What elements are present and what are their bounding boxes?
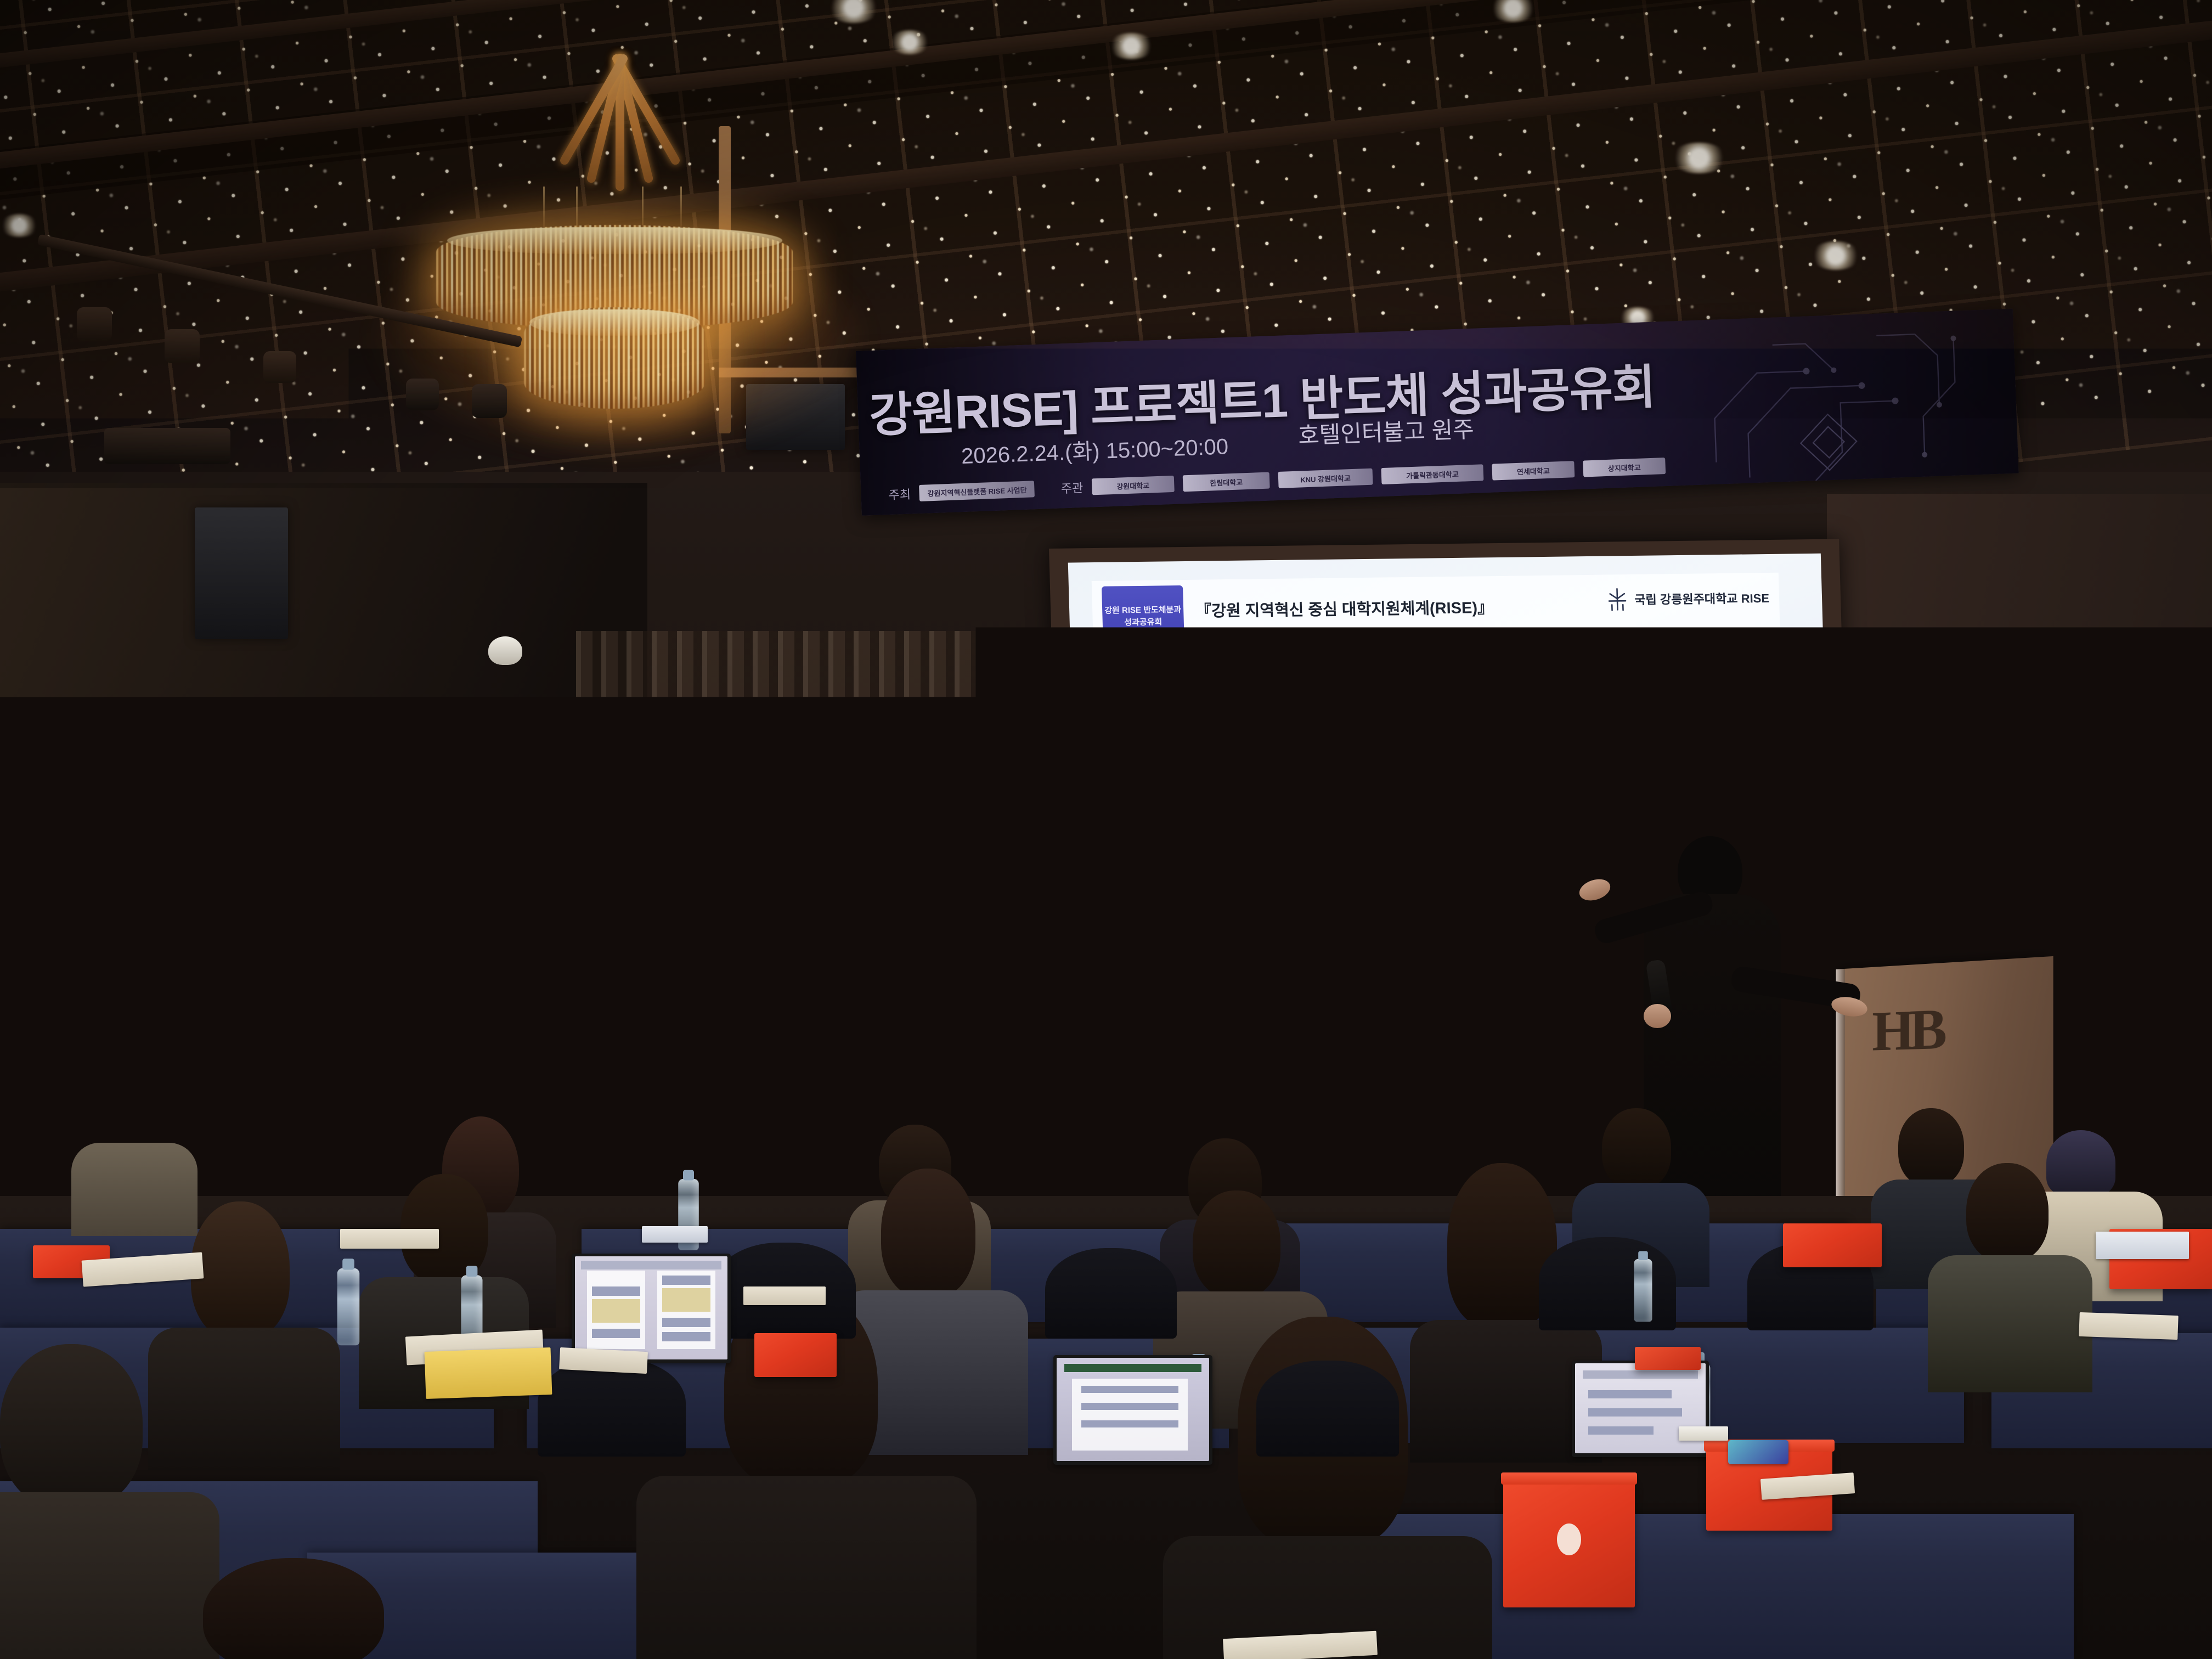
diagram-box-participating-companies: 도내 참여기업(14) 반도체소재/기구, 네온텍 등 반도체센서 학야테크, … (1180, 793, 1312, 866)
document-text-band (662, 1332, 711, 1341)
slide-bullet: ICC-Lab 융합형 첨단 반도체 기술혁신과 강원형 미래 반도체 산업 선… (1259, 670, 1753, 692)
wall-speaker (195, 507, 288, 639)
gift-box-label-seal (1557, 1523, 1581, 1555)
orbit-node (1542, 859, 1547, 863)
water-bottle (1634, 1259, 1652, 1322)
slide-logo-text: 국립 강릉원주대학교 RISE (1634, 589, 1770, 608)
conference-room-photo: 강원RISE] 프로젝트1 반도체 성과공유회 2026.2.24.(화) 15… (0, 0, 2212, 1659)
center-line-1: G-Tech 브릿지 (1406, 860, 1478, 873)
banner-title: 강원RISE] 프로젝트1 반도체 성과공유회 (868, 347, 1693, 445)
diagram-arrow-icon: ⟶ (1489, 988, 1531, 1026)
document-text-band (1081, 1386, 1178, 1393)
diagram-donut-ring: G-Tech 브릿지 연계형 강원형 첨단 반도체 센서 산업 육성 및 인력 … (1358, 794, 1527, 977)
shield-line-1: 강원 RISE 반도체분과 (1102, 604, 1184, 617)
center-line-2: 연계형 강원형 첨단 (1406, 872, 1478, 886)
laptop-screen (575, 1256, 727, 1359)
diagram-box-body: 강원특별자치도 강릉시 원주시 (1185, 949, 1315, 1000)
audience-head (1966, 1163, 2049, 1262)
connector-pill: MOU (1537, 789, 1562, 801)
audience-head (1898, 1108, 1964, 1186)
connector-pill: 재정지원 (1435, 999, 1468, 1012)
orbit-node (1437, 774, 1442, 778)
slide-event-shield-badge: 강원 RISE 반도체분과 성과공유회 (1102, 585, 1185, 663)
connector-pill: MOU (1327, 793, 1353, 804)
laptop[interactable] (1572, 1361, 1709, 1457)
chandelier-tier-lower (524, 307, 705, 409)
document-highlight-block (592, 1299, 641, 1323)
audience-head (1193, 1190, 1280, 1298)
connector-pill: 행정지원 (1314, 944, 1348, 957)
audience-head-ponytail (881, 1169, 975, 1298)
yellow-folder (425, 1347, 552, 1399)
laptop[interactable] (572, 1254, 731, 1363)
red-gift-box (1783, 1223, 1882, 1267)
presenter-right-hand-pointing (1830, 995, 1869, 1019)
orbit-node (1535, 964, 1539, 969)
laptop-screen (1057, 1358, 1209, 1461)
sponsor-logo: KNU 강원대학교 (1278, 469, 1373, 488)
track-spotlight-fixture (165, 329, 200, 363)
recessed-ceiling-light (1671, 143, 1728, 173)
document-toolbar (581, 1261, 721, 1270)
red-gift-box (754, 1333, 837, 1377)
center-line-4: 육성 및 인력 양성 (1407, 898, 1479, 912)
chair (1256, 1361, 1399, 1457)
audience-shoulders-jacket (0, 1492, 219, 1659)
document-body (1072, 1379, 1188, 1451)
diagram-box-title: 지자체 (시/군) (1184, 930, 1313, 951)
red-gift-box (1635, 1347, 1701, 1370)
university-emblem-icon (1606, 586, 1629, 612)
audience-shoulders (148, 1328, 340, 1470)
printed-paper (340, 1229, 439, 1249)
diagram-box-item: 원주시 (1193, 975, 1307, 986)
ring-segment-label: 현장맞춤교육 (1497, 876, 1505, 908)
banner-host-label: 주최 (888, 485, 911, 503)
document-text-band (1588, 1408, 1682, 1417)
diagram-box-title: 도내 참여기업(14) (1181, 794, 1310, 815)
diagram-center-text: G-Tech 브릿지 연계형 강원형 첨단 반도체 센서 산업 육성 및 인력 … (1406, 860, 1479, 912)
shield-line-2: 성과공유회 (1103, 616, 1184, 629)
slide-headline: 『강원 지역혁신 중심 대학지원체계(RISE)』 (1195, 595, 1494, 622)
track-spotlight-fixture (406, 379, 439, 410)
recessed-ceiling-light (1810, 241, 1861, 270)
audience-shoulders (1928, 1255, 2092, 1392)
connector-pill: 연계교육 (1555, 934, 1588, 947)
chair (1539, 1237, 1676, 1330)
lectern-top-surface (226, 1086, 421, 1100)
printed-paper (2079, 1312, 2178, 1340)
slide-section-title: 01. 과제개요 (1106, 704, 1215, 735)
document-text-band (1588, 1390, 1672, 1398)
audience-cap (2046, 1130, 2115, 1196)
diagram-box-item: (한국2대전 기업 우선지원 등 (1189, 849, 1303, 860)
document-text-band (1588, 1426, 1654, 1435)
audience-shoulders (636, 1476, 977, 1659)
sponsor-logo: 상지대학교 (1583, 458, 1666, 477)
document-text-band (592, 1286, 641, 1296)
audience-head (1602, 1108, 1671, 1189)
diagram-top-label: 국립강릉원주대학교 상지대학교 (1360, 755, 1514, 777)
printed-paper (559, 1347, 648, 1374)
recessed-ceiling-light (889, 30, 930, 54)
audience-head (203, 1558, 384, 1659)
banner-venue: 호텔인터불고 원주 (1297, 411, 1475, 451)
sponsor-logo: 강원대학교 (1092, 476, 1175, 495)
audience-head (0, 1344, 143, 1509)
slide-bullet-list: ICC-Lab 융합형 첨단 반도체 기술혁신과 강원형 미래 반도체 산업 선… (1259, 670, 1754, 737)
document-text-band (1081, 1403, 1178, 1410)
ceiling-av-unit (104, 428, 230, 464)
chair (538, 1358, 686, 1457)
diagram-box-local-government: 지자체 (시/군) 강원특별자치도 강릉시 원주시 (1184, 929, 1316, 1001)
sponsor-logo: 가톨릭관동대학교 (1381, 464, 1483, 484)
track-spotlight-fixture (472, 384, 507, 418)
orbit-node (1350, 967, 1355, 971)
podium-hb-logo: HB (1872, 996, 1942, 1064)
slide-university-logo: 국립 강릉원주대학교 RISE (1606, 585, 1770, 612)
sponsor-logo: 한림대학교 (1183, 472, 1270, 492)
laptop[interactable] (1053, 1355, 1212, 1465)
audience-shoulders (71, 1143, 198, 1236)
sponsor-logo: 강원지역혁신플랫폼 RISE 사업단 (919, 481, 1035, 501)
smartphone[interactable] (1728, 1440, 1788, 1464)
slide-bullet: G-Tech 브릿지 혁신과 상용화를 통한 강원 반도체 신소재 센서 산업의… (1260, 701, 1754, 723)
document-text-band (662, 1276, 711, 1285)
document-column-right (657, 1271, 715, 1349)
document-column-left (587, 1271, 645, 1349)
document-text-band (662, 1318, 711, 1327)
audience-head-curly-hair (191, 1201, 290, 1339)
chair (1045, 1248, 1177, 1339)
sponsor-logo: 연세대학교 (1492, 461, 1575, 480)
gift-box-lid (1501, 1472, 1637, 1485)
presenter-mic-hand (1644, 1004, 1671, 1028)
red-gift-box (1503, 1481, 1635, 1607)
printed-paper (743, 1286, 826, 1305)
recessed-ceiling-light (0, 214, 38, 237)
track-spotlight-fixture (263, 351, 296, 383)
recessed-ceiling-light (1108, 33, 1154, 59)
paper-cup (1679, 1426, 1728, 1441)
document-text-band (1081, 1420, 1178, 1427)
security-camera-dome (488, 636, 522, 665)
diagram-box-body: 반도체소재/기구, 네온텍 등 반도체센서 학야테크, 디케스 테크노, 유보쉬… (1181, 813, 1311, 866)
chandelier (406, 22, 823, 439)
audience-head (99, 1084, 156, 1148)
track-spotlight-fixture (77, 307, 112, 341)
name-card (2096, 1232, 2189, 1259)
document-toolbar (1583, 1370, 1697, 1379)
document-text-band (592, 1329, 641, 1338)
banner-organizer-label: 주관 (1060, 478, 1084, 496)
center-line-3: 반도체 센서 산업 (1407, 885, 1479, 899)
name-card (642, 1226, 708, 1243)
document-highlight-block (662, 1288, 711, 1312)
water-bottle (337, 1268, 360, 1345)
spreadsheet-toolbar (1064, 1364, 1201, 1372)
diagram-box-title: 공공기관 (1633, 771, 1762, 792)
